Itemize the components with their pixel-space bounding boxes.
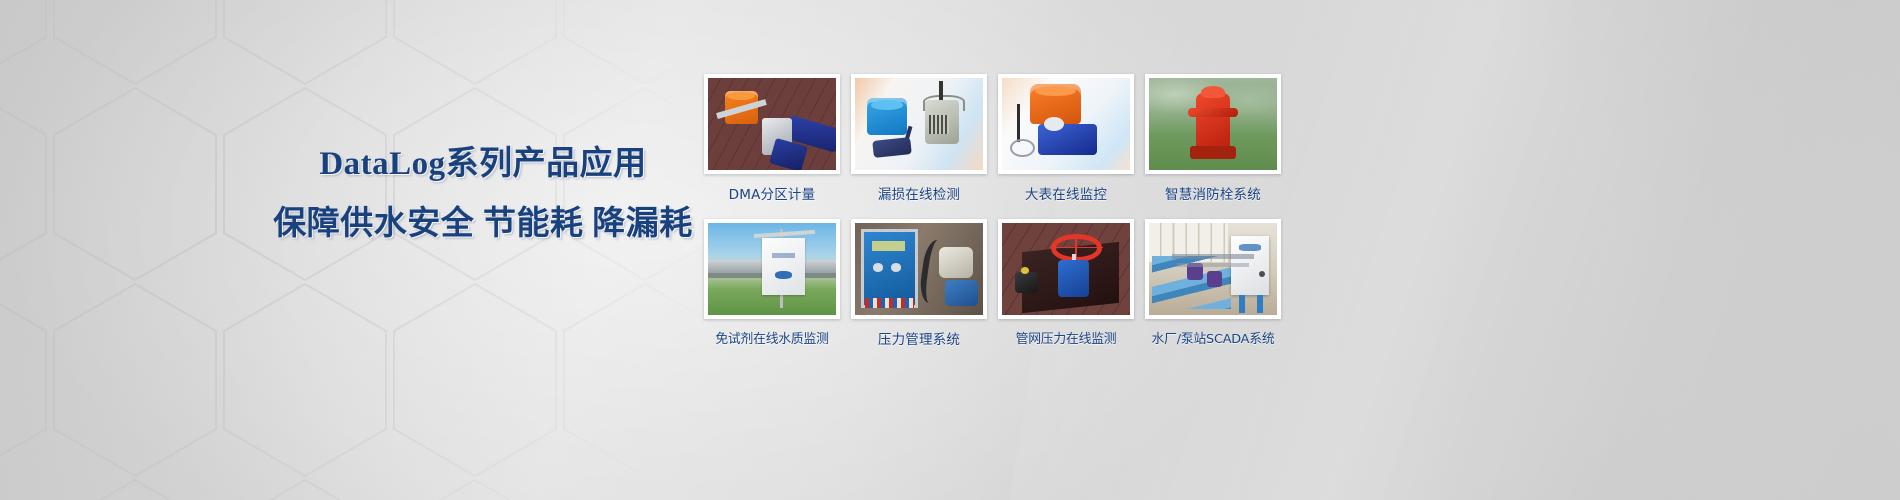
headline-line-2: 保障供水安全 节能耗 降漏耗 [268,202,698,246]
dma-zone-metering-photo [708,78,836,170]
product-cell-pressure-management-system[interactable]: 压力管理系统 [851,219,987,348]
product-caption: 管网压力在线监测 [998,328,1134,347]
product-caption: DMA分区计量 [704,183,840,203]
product-thumbnail-grid: DMA分区计量 漏损在线检测 大表在线监控 [704,74,1284,348]
headline-line-1: DataLog系列产品应用 [268,142,698,186]
product-cell-dma-zone-metering[interactable]: DMA分区计量 [704,74,840,203]
waterworks-pumpstation-scada-photo [1149,223,1277,315]
thumbnail-frame[interactable] [1145,74,1281,174]
thumbnail-row-2: 免试剂在线水质监测 压力管理系统 管网压力在 [704,219,1284,348]
thumbnail-frame[interactable] [851,219,987,319]
product-caption: 水厂/泵站SCADA系统 [1145,328,1281,347]
product-caption: 漏损在线检测 [851,183,987,203]
thumbnail-frame[interactable] [1145,219,1281,319]
smart-fire-hydrant-system-photo [1149,78,1277,170]
product-caption: 智慧消防栓系统 [1145,183,1281,203]
hexagon-watermark [0,0,740,500]
headline-block: DataLog系列产品应用 保障供水安全 节能耗 降漏耗 [268,142,698,246]
thumbnail-frame[interactable] [704,74,840,174]
reagent-free-water-quality-monitoring-photo [708,223,836,315]
thumbnail-frame[interactable] [998,74,1134,174]
thumbnail-row-1: DMA分区计量 漏损在线检测 大表在线监控 [704,74,1284,203]
large-meter-online-monitoring-photo [1002,78,1130,170]
product-cell-leakage-online-detection[interactable]: 漏损在线检测 [851,74,987,203]
product-cell-waterworks-pumpstation-scada[interactable]: 水厂/泵站SCADA系统 [1145,219,1281,348]
thumbnail-frame[interactable] [704,219,840,319]
product-caption: 大表在线监控 [998,183,1134,203]
product-cell-reagent-free-water-quality-monitoring[interactable]: 免试剂在线水质监测 [704,219,840,348]
leakage-online-detection-photo [855,78,983,170]
pressure-management-system-photo [855,223,983,315]
product-caption: 压力管理系统 [851,328,987,348]
pipe-network-pressure-monitoring-photo [1002,223,1130,315]
product-application-banner: DataLog系列产品应用 保障供水安全 节能耗 降漏耗 DMA分区计量 [0,0,1900,500]
thumbnail-frame[interactable] [851,74,987,174]
product-cell-pipe-network-pressure-monitoring[interactable]: 管网压力在线监测 [998,219,1134,348]
product-cell-large-meter-online-monitoring[interactable]: 大表在线监控 [998,74,1134,203]
product-cell-smart-fire-hydrant-system[interactable]: 智慧消防栓系统 [1145,74,1281,203]
product-caption: 免试剂在线水质监测 [704,328,840,347]
thumbnail-frame[interactable] [998,219,1134,319]
